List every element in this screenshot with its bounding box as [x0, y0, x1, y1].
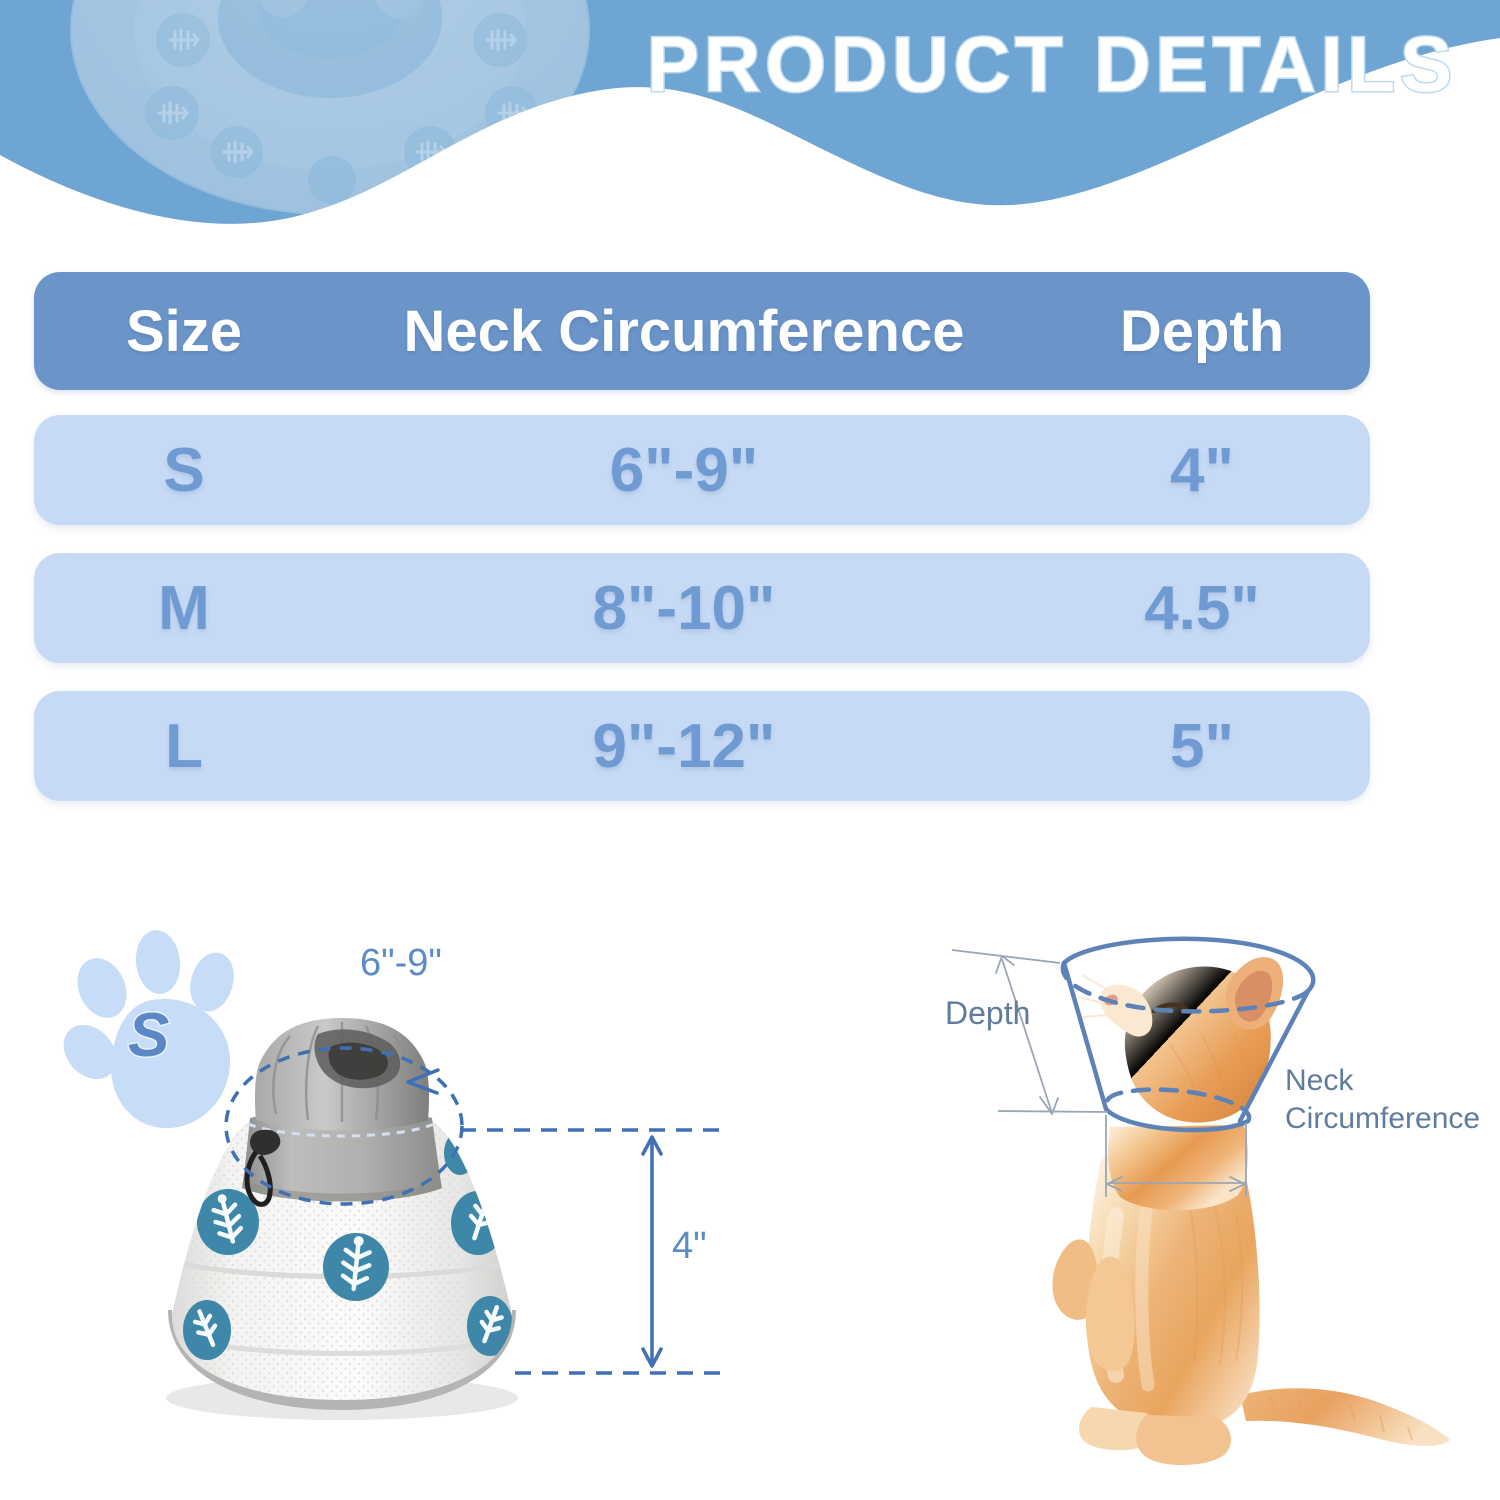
- table-row: M 8"-10" 4.5": [34, 553, 1370, 663]
- neck-dimension-label: 6"-9": [360, 942, 442, 985]
- size-badge-letter: S: [128, 1000, 169, 1071]
- table-row: L 9"-12" 5": [34, 691, 1370, 801]
- cat-neck: [1108, 1125, 1248, 1210]
- cell-neck: 6"-9": [334, 435, 1034, 506]
- product-details-page: PRODUCT DETAILS PRODUCT DETAILS Size Nec…: [0, 0, 1500, 1500]
- cell-neck: 9"-12": [334, 711, 1034, 782]
- cell-size: L: [34, 711, 334, 782]
- cat-measurement-diagram: Depth Neck Circumference: [940, 915, 1485, 1500]
- size-chart-table: Size Neck Circumference Depth S 6"-9" 4"…: [34, 272, 1370, 801]
- cell-depth: 5": [1034, 711, 1370, 782]
- column-header-size: Size: [34, 298, 334, 365]
- header-banner: PRODUCT DETAILS PRODUCT DETAILS: [0, 0, 1500, 265]
- cell-depth: 4": [1034, 435, 1370, 506]
- column-header-depth: Depth: [1034, 298, 1370, 365]
- column-header-neck: Neck Circumference: [334, 298, 1034, 365]
- depth-dimension-label: 4": [672, 1225, 707, 1268]
- cell-depth: 4.5": [1034, 573, 1370, 644]
- table-row: S 6"-9" 4": [34, 415, 1370, 525]
- depth-label: Depth: [945, 995, 1030, 1031]
- orange-tabby-cat: [1052, 957, 1450, 1465]
- table-header-row: Size Neck Circumference Depth: [34, 272, 1370, 390]
- neck-label-line2: Circumference: [1285, 1101, 1480, 1137]
- cell-size: M: [34, 573, 334, 644]
- cell-neck: 8"-10": [334, 573, 1034, 644]
- page-title: PRODUCT DETAILS: [612, 18, 1492, 110]
- cat-hind-foot-right: [1136, 1415, 1231, 1465]
- cat-tail: [1240, 1388, 1450, 1446]
- neck-label-line1: Neck: [1285, 1063, 1353, 1099]
- cell-size: S: [34, 435, 334, 506]
